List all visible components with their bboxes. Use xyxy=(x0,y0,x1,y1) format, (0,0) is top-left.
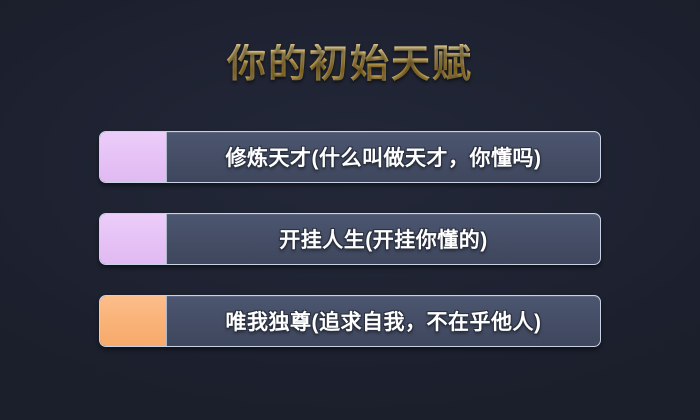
option-color-swatch-2 xyxy=(100,214,167,264)
option-color-swatch-3 xyxy=(100,296,167,346)
option-body-2: 开挂人生(开挂你懂的) xyxy=(167,214,600,264)
talent-option-3[interactable]: 唯我独尊(追求自我，不在乎他人) xyxy=(99,295,601,347)
talent-option-2[interactable]: 开挂人生(开挂你懂的) xyxy=(99,213,601,265)
option-label-2: 开挂人生(开挂你懂的) xyxy=(279,224,488,254)
option-body-3: 唯我独尊(追求自我，不在乎他人) xyxy=(167,296,600,346)
game-screen: 你的初始天赋 修炼天才(什么叫做天才，你懂吗) 开挂人生(开挂你懂的) 唯我独尊… xyxy=(0,0,700,420)
option-label-3: 唯我独尊(追求自我，不在乎他人) xyxy=(226,306,542,336)
page-title: 你的初始天赋 xyxy=(0,44,700,87)
option-body-1: 修炼天才(什么叫做天才，你懂吗) xyxy=(167,132,600,182)
option-color-swatch-1 xyxy=(100,132,167,182)
talent-option-1[interactable]: 修炼天才(什么叫做天才，你懂吗) xyxy=(99,131,601,183)
option-label-1: 修炼天才(什么叫做天才，你懂吗) xyxy=(226,142,542,172)
talent-option-list: 修炼天才(什么叫做天才，你懂吗) 开挂人生(开挂你懂的) 唯我独尊(追求自我，不… xyxy=(99,131,601,347)
